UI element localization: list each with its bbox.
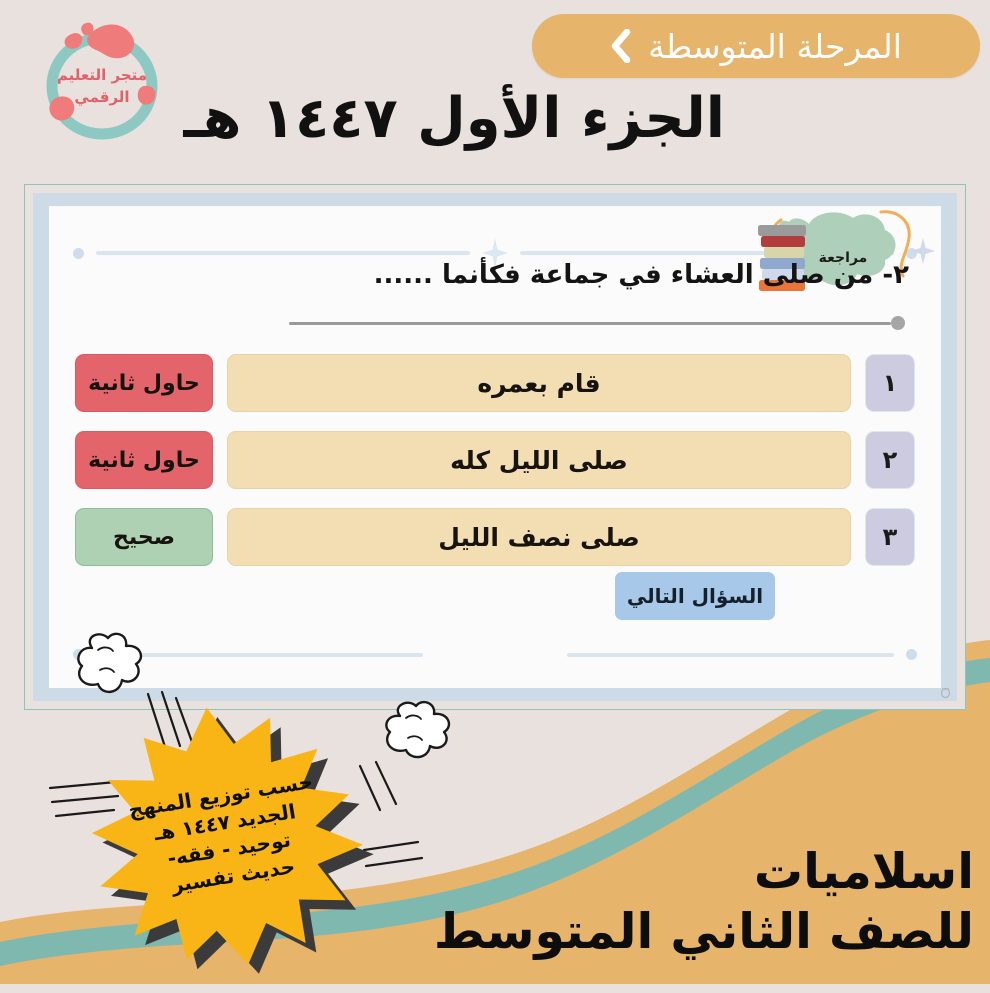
stage-badge-label: المرحلة المتوسطة xyxy=(648,30,902,63)
next-question-button[interactable]: السؤال التالي xyxy=(615,572,775,620)
answer-option-button[interactable]: صلى نصف الليل xyxy=(227,508,851,566)
slide-card: مراجعة ٢- من صلى العشاء في جماعة فكأنما … xyxy=(24,184,966,710)
subject-line-1: اسلاميات xyxy=(434,842,974,902)
page-title: الجزء الأول ١٤٤٧ هـ xyxy=(183,88,725,151)
corner-speck-icon xyxy=(940,684,951,697)
logo-line2: الرقمي xyxy=(74,88,129,106)
answer-option-button[interactable]: صلى الليل كله xyxy=(227,431,851,489)
slide-card-content: مراجعة ٢- من صلى العشاء في جماعة فكأنما … xyxy=(49,206,941,688)
answer-row: ٢ صلى الليل كله حاول ثانية xyxy=(75,431,915,489)
divider-line-left xyxy=(567,653,894,657)
subject-line-2: للصف الثاني المتوسط xyxy=(434,902,974,962)
answer-option-button[interactable]: قام بعمره xyxy=(227,354,851,412)
brand-logo: متجر التعليم الرقمي xyxy=(32,14,172,152)
question-underline xyxy=(289,316,903,330)
bottom-divider xyxy=(73,649,917,660)
question-text: ٢- من صلى العشاء في جماعة فكأنما ...... xyxy=(299,258,909,293)
answer-feedback-chip: حاول ثانية xyxy=(75,431,213,489)
answer-feedback-chip: حاول ثانية xyxy=(75,354,213,412)
subject-title-block: اسلاميات للصف الثاني المتوسط xyxy=(434,842,974,962)
divider-dot-right xyxy=(73,248,84,259)
stage-badge[interactable]: المرحلة المتوسطة xyxy=(532,14,980,78)
answer-row: ١ قام بعمره حاول ثانية xyxy=(75,354,915,412)
answer-number-badge: ١ xyxy=(865,354,915,412)
slide-card-frame: مراجعة ٢- من صلى العشاء في جماعة فكأنما … xyxy=(33,193,957,701)
answer-list: ١ قام بعمره حاول ثانية ٢ صلى الليل كله ح… xyxy=(75,354,915,566)
logo-line1: متجر التعليم xyxy=(57,66,147,84)
question-underline-knob xyxy=(891,316,905,330)
divider-dot-left xyxy=(906,649,917,660)
answer-number-badge: ٢ xyxy=(865,431,915,489)
puff-cloud-icon xyxy=(380,700,460,766)
answer-feedback-chip: صحيح xyxy=(75,508,213,566)
promo-burst-badge: حسب توزيع المنهج الجديد ١٤٤٧ هـ توحيد - … xyxy=(82,700,372,972)
divider-line-right xyxy=(96,251,470,255)
chevron-left-icon xyxy=(610,29,632,63)
answer-number-badge: ٣ xyxy=(865,508,915,566)
answer-row: ٣ صلى نصف الليل صحيح xyxy=(75,508,915,566)
question-underline-bar xyxy=(289,322,891,325)
